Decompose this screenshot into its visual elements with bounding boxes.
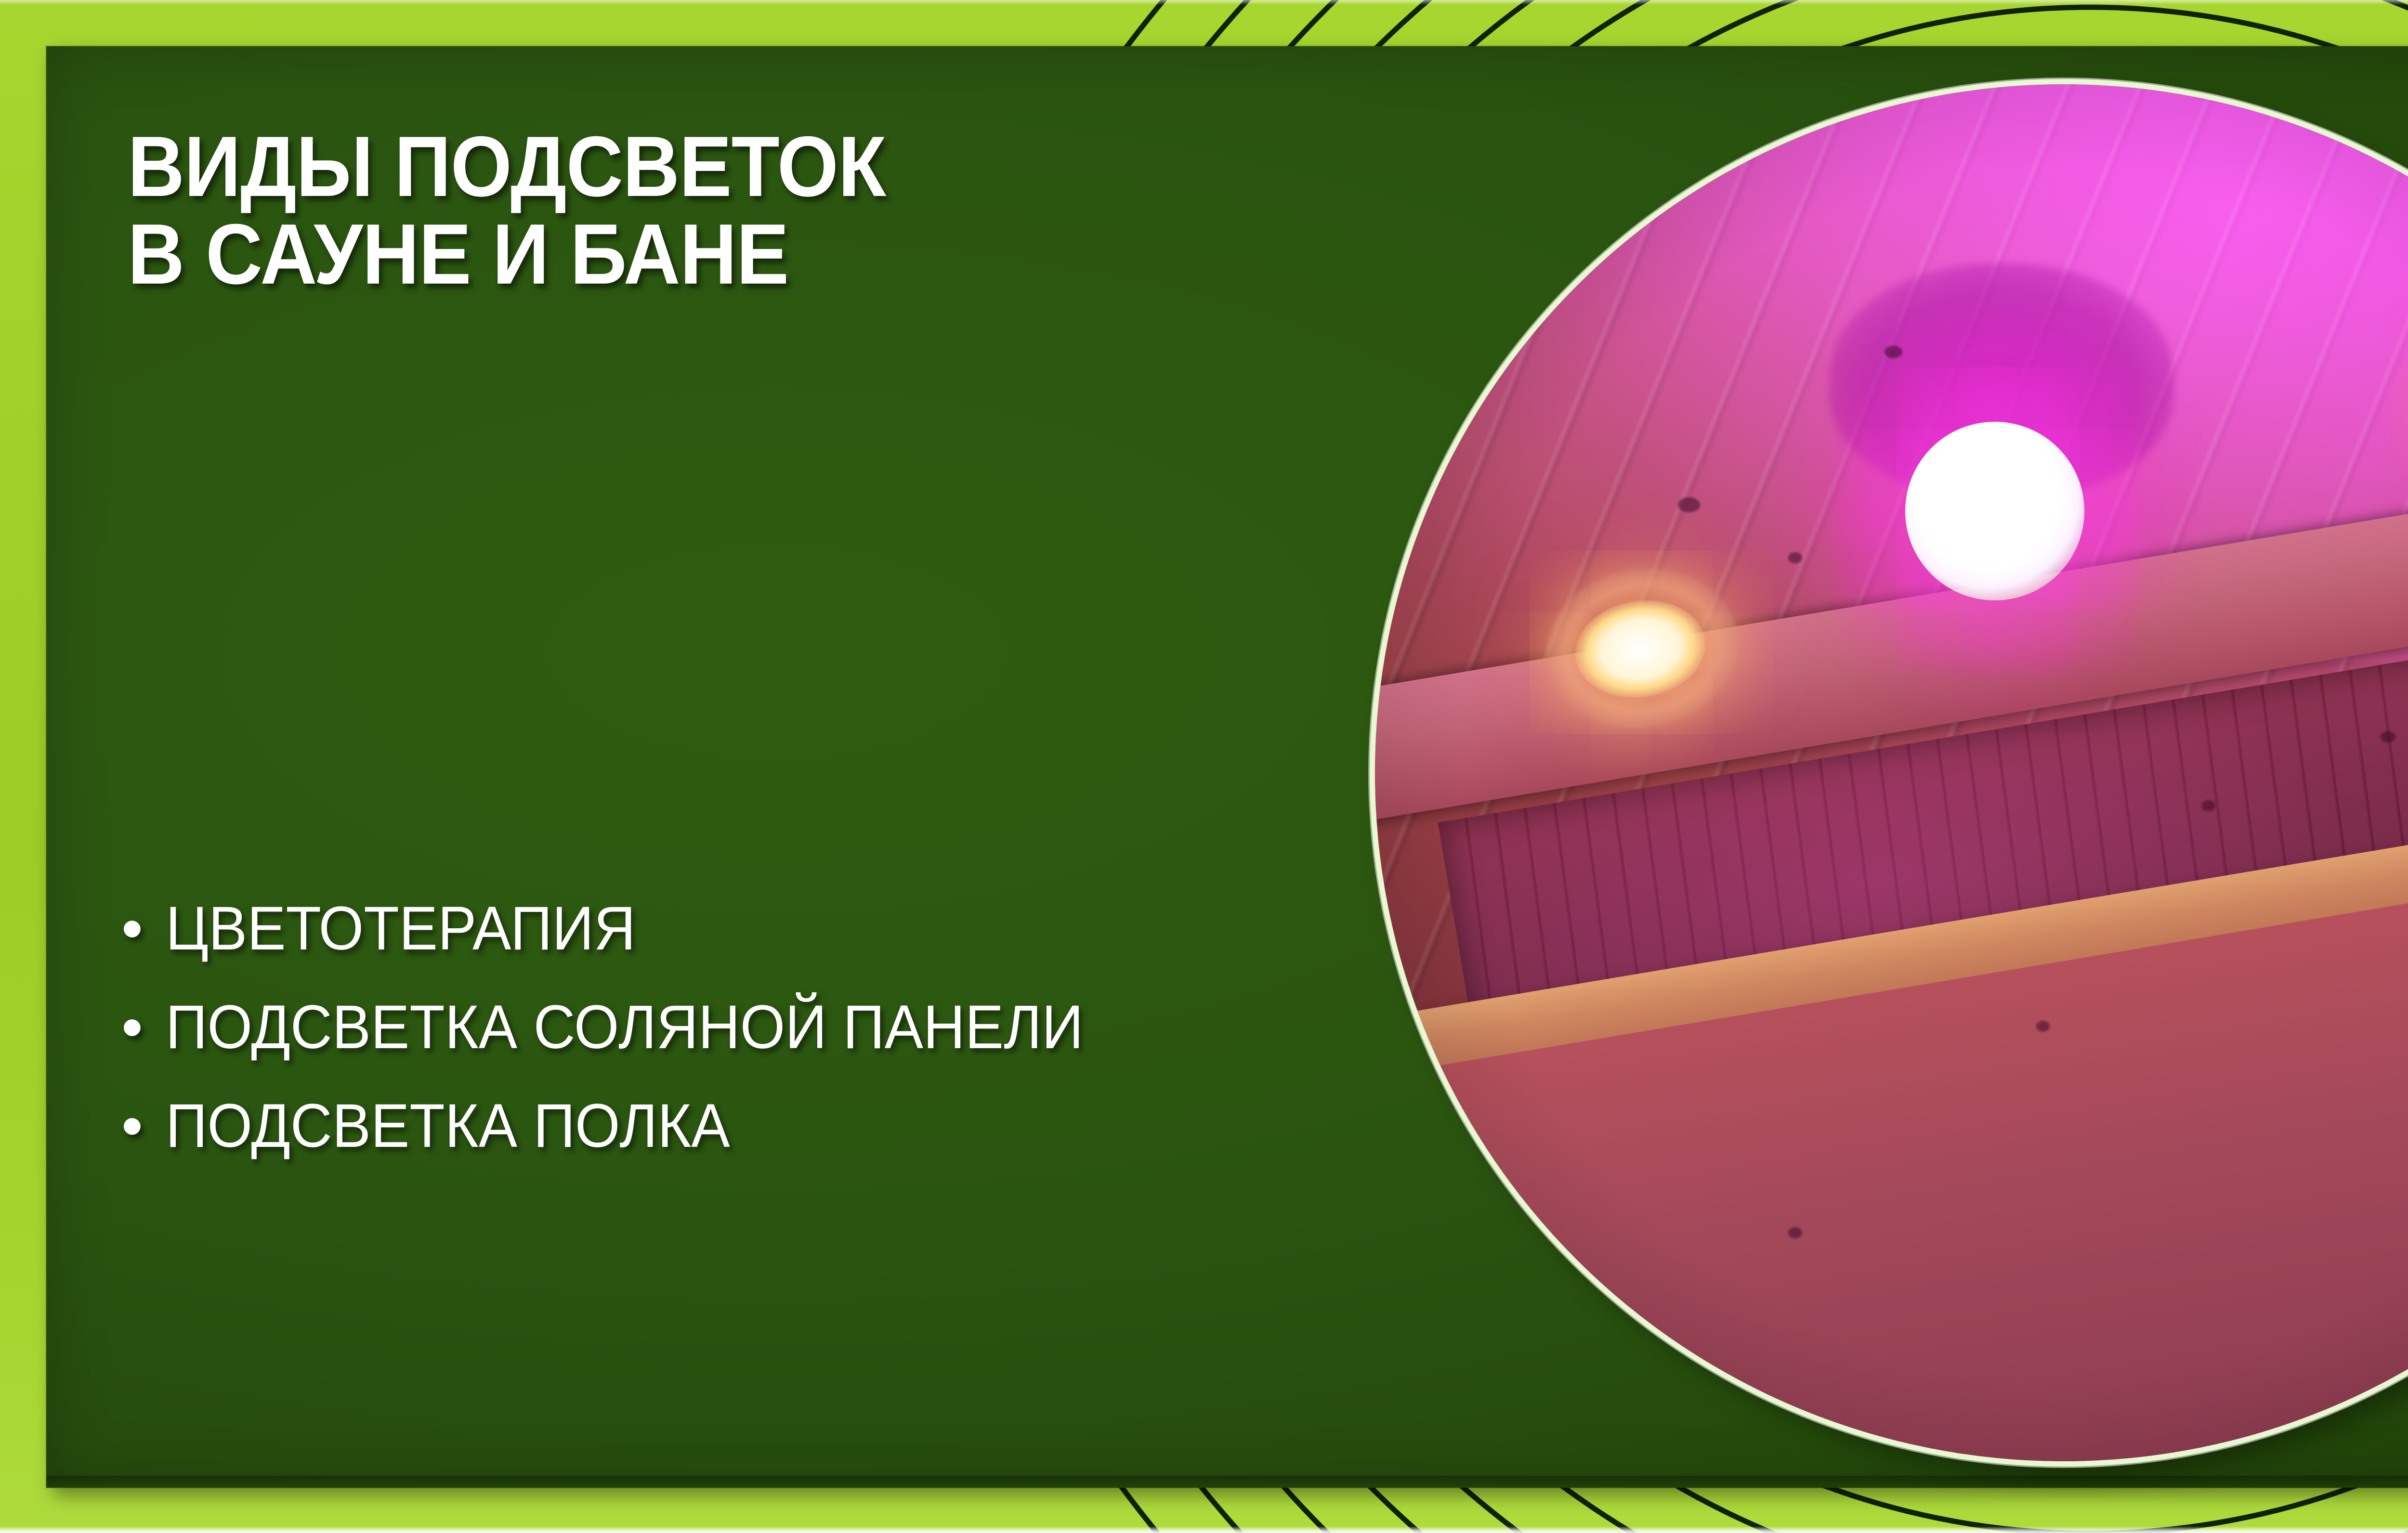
bullet-marker-icon: •: [121, 1086, 144, 1167]
page-title: ВИДЫ ПОДСВЕТОК В САУНЕ И БАНЕ: [128, 123, 1235, 298]
sauna-photo-circle: [1375, 84, 2408, 1461]
title-line-2: В САУНЕ И БАНЕ: [128, 210, 1235, 298]
list-item: • ПОДСВЕТКА СОЛЯНОЙ ПАНЕЛИ: [121, 987, 1422, 1068]
list-item: • ЦВЕТОТЕРАПИЯ: [121, 888, 1422, 970]
bullet-marker-icon: •: [121, 987, 144, 1068]
panel-inner-shadow-bottom: [46, 1476, 2408, 1488]
headline-block: ВИДЫ ПОДСВЕТОК В САУНЕ И БАНЕ: [128, 123, 1332, 298]
canvas-bottom-sheen: [0, 1526, 2408, 1533]
list-item-label: ЦВЕТОТЕРАПИЯ: [166, 888, 1347, 970]
list-item-label: ПОДСВЕТКА ПОЛКА: [166, 1086, 1347, 1167]
title-line-1: ВИДЫ ПОДСВЕТОК: [128, 123, 1235, 210]
list-item: • ПОДСВЕТКА ПОЛКА: [121, 1086, 1422, 1167]
canvas-top-sheen: [0, 0, 2408, 5]
sauna-photo: [1375, 84, 2408, 1461]
banner-canvas: ВИДЫ ПОДСВЕТОК В САУНЕ И БАНЕ • ЦВЕТОТЕР…: [0, 0, 2408, 1533]
bullet-marker-icon: •: [121, 888, 144, 970]
feature-list: • ЦВЕТОТЕРАПИЯ • ПОДСВЕТКА СОЛЯНОЙ ПАНЕЛ…: [121, 888, 1422, 1184]
list-item-label: ПОДСВЕТКА СОЛЯНОЙ ПАНЕЛИ: [166, 987, 1347, 1068]
